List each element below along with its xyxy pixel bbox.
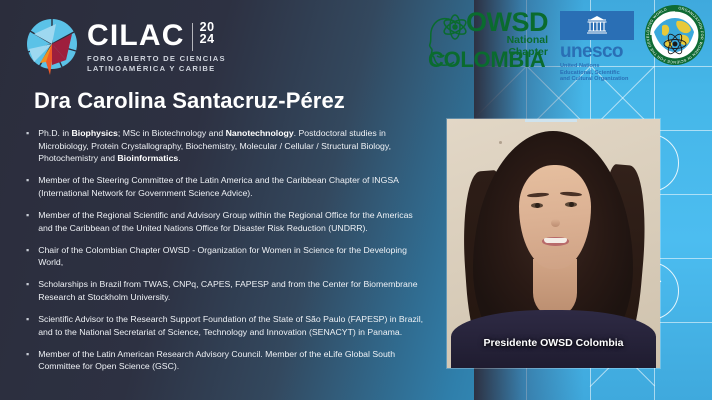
cilac-wordmark: CILAC	[87, 21, 185, 51]
list-item: ▪ Member of the Regional Scientific and …	[24, 209, 426, 234]
bullet-marker: ▪	[24, 244, 29, 269]
bullet-text: Member of the Steering Committee of the …	[38, 174, 426, 199]
bullet-marker: ▪	[24, 278, 29, 303]
list-item: ▪ Ph.D. in Biophysics; MSc in Biotechnol…	[24, 127, 426, 165]
bullet-text: Scholarships in Brazil from TWAS, CNPq, …	[38, 278, 426, 303]
bullet-text: Chair of the Colombian Chapter OWSD - Or…	[38, 244, 426, 269]
list-item: ▪ Scientific Advisor to the Research Sup…	[24, 313, 426, 338]
slide-title: Dra Carolina Santacruz-Pérez	[34, 88, 345, 114]
owsd-acronym: OWSD	[466, 10, 548, 35]
list-item: ▪ Member of the Latin American Research …	[24, 348, 426, 373]
list-item: ▪ Member of the Steering Committee of th…	[24, 174, 426, 199]
portrait-photo: Presidente OWSD Colombia	[447, 119, 660, 368]
list-item: ▪ Chair of the Colombian Chapter OWSD - …	[24, 244, 426, 269]
bullet-text: Member of the Latin American Research Ad…	[38, 348, 426, 373]
cilac-subtitle-line1: FORO ABIERTO DE CIENCIAS	[87, 54, 226, 64]
unesco-sub-line1: United Nations	[560, 63, 636, 70]
cilac-year: 20 24	[200, 21, 215, 46]
unesco-sub-line2: Educational, Scientific	[560, 70, 636, 77]
unesco-logo: unesco United Nations Educational, Scien…	[560, 11, 636, 83]
owsd-colombia-logo: OWSD National Chapter COLOMBIA	[426, 8, 546, 74]
bullet-marker: ▪	[24, 313, 29, 338]
bullet-text: Ph.D. in Biophysics; MSc in Biotechnolog…	[38, 127, 426, 165]
cilac-year-bottom: 24	[200, 33, 215, 46]
unesco-temple-icon	[560, 11, 634, 40]
cilac-mark-icon	[26, 18, 78, 76]
photo-top-tab	[525, 119, 577, 122]
photo-caption: Presidente OWSD Colombia	[447, 337, 660, 349]
presentation-slide: CILAC 20 24 FORO ABIERTO DE CIENCIAS LAT…	[0, 0, 712, 400]
cilac-subtitle-line2: LATINOAMÉRICA Y CARIBE	[87, 64, 226, 74]
bullet-marker: ▪	[24, 174, 29, 199]
owsd-seal-icon: ORGANIZATION FOR WOMEN IN SCIENCE FOR TH…	[644, 4, 706, 66]
cilac-divider	[192, 23, 193, 51]
bullet-marker: ▪	[24, 209, 29, 234]
bullet-text: Member of the Regional Scientific and Ad…	[38, 209, 426, 234]
owsd-country: COLOMBIA	[428, 50, 545, 71]
bullet-marker: ▪	[24, 127, 29, 165]
unesco-wordmark: unesco	[560, 42, 636, 61]
cilac-logo: CILAC 20 24 FORO ABIERTO DE CIENCIAS LAT…	[26, 18, 226, 76]
bullet-text: Scientific Advisor to the Research Suppo…	[38, 313, 426, 338]
bullet-marker: ▪	[24, 348, 29, 373]
unesco-sub-line3: and Cultural Organization	[560, 76, 636, 83]
bullet-list: ▪ Ph.D. in Biophysics; MSc in Biotechnol…	[24, 127, 426, 382]
list-item: ▪ Scholarships in Brazil from TWAS, CNPq…	[24, 278, 426, 303]
